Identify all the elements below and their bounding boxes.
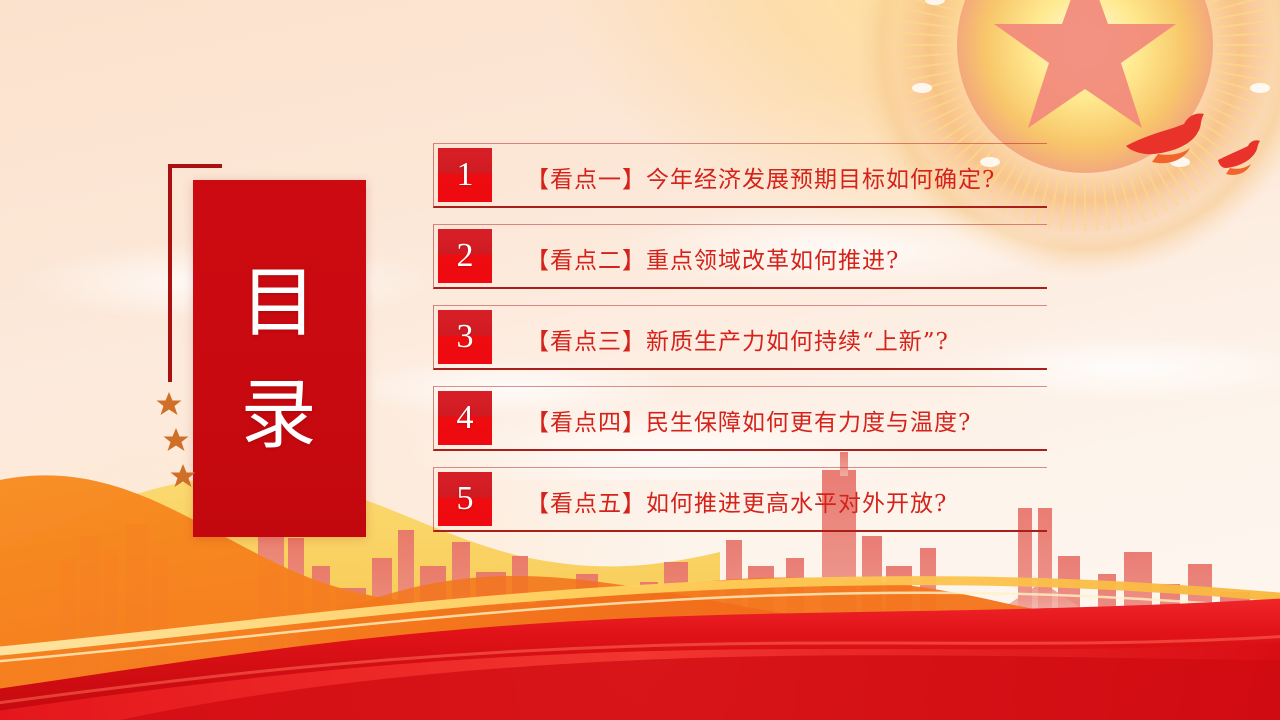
star-icon-2 xyxy=(164,428,189,451)
toc-item-label-1: 【看点一】今年经济发展预期目标如何确定? xyxy=(526,144,1043,209)
toc-item-2[interactable]: 2 【看点二】重点领域改革如何推进? xyxy=(433,224,1047,289)
toc-item-label-4: 【看点四】民生保障如何更有力度与温度? xyxy=(526,387,1043,452)
title-char-1: 目 xyxy=(241,258,319,348)
toc-item-label-5: 【看点五】如何推进更高水平对外开放? xyxy=(526,468,1043,533)
toc-item-1[interactable]: 1 【看点一】今年经济发展预期目标如何确定? xyxy=(433,143,1047,208)
star-decoration-group xyxy=(155,390,215,500)
toc-item-3[interactable]: 3 【看点三】新质生产力如何持续“上新”? xyxy=(433,305,1047,370)
star-icon-1 xyxy=(157,392,182,415)
toc-number-badge-1: 1 xyxy=(438,148,492,202)
toc-number-badge-5: 5 xyxy=(438,472,492,526)
toc-title-box: 目 录 xyxy=(193,180,366,537)
toc-number-badge-3: 3 xyxy=(438,310,492,364)
toc-item-label-2: 【看点二】重点领域改革如何推进? xyxy=(526,225,1043,290)
toc-item-5[interactable]: 5 【看点五】如何推进更高水平对外开放? xyxy=(433,467,1047,532)
slide-canvas: 目 录 1 【看点一】今年经济发展预期目标如何确定? 2 【看点二】重点领域改革… xyxy=(0,0,1280,720)
title-char-2: 录 xyxy=(241,370,319,460)
toc-item-label-3: 【看点三】新质生产力如何持续“上新”? xyxy=(526,306,1043,371)
toc-item-4[interactable]: 4 【看点四】民生保障如何更有力度与温度? xyxy=(433,386,1047,451)
star-icon-3 xyxy=(171,464,196,487)
toc-list: 1 【看点一】今年经济发展预期目标如何确定? 2 【看点二】重点领域改革如何推进… xyxy=(433,143,1047,532)
toc-number-badge-4: 4 xyxy=(438,391,492,445)
toc-number-badge-2: 2 xyxy=(438,229,492,283)
